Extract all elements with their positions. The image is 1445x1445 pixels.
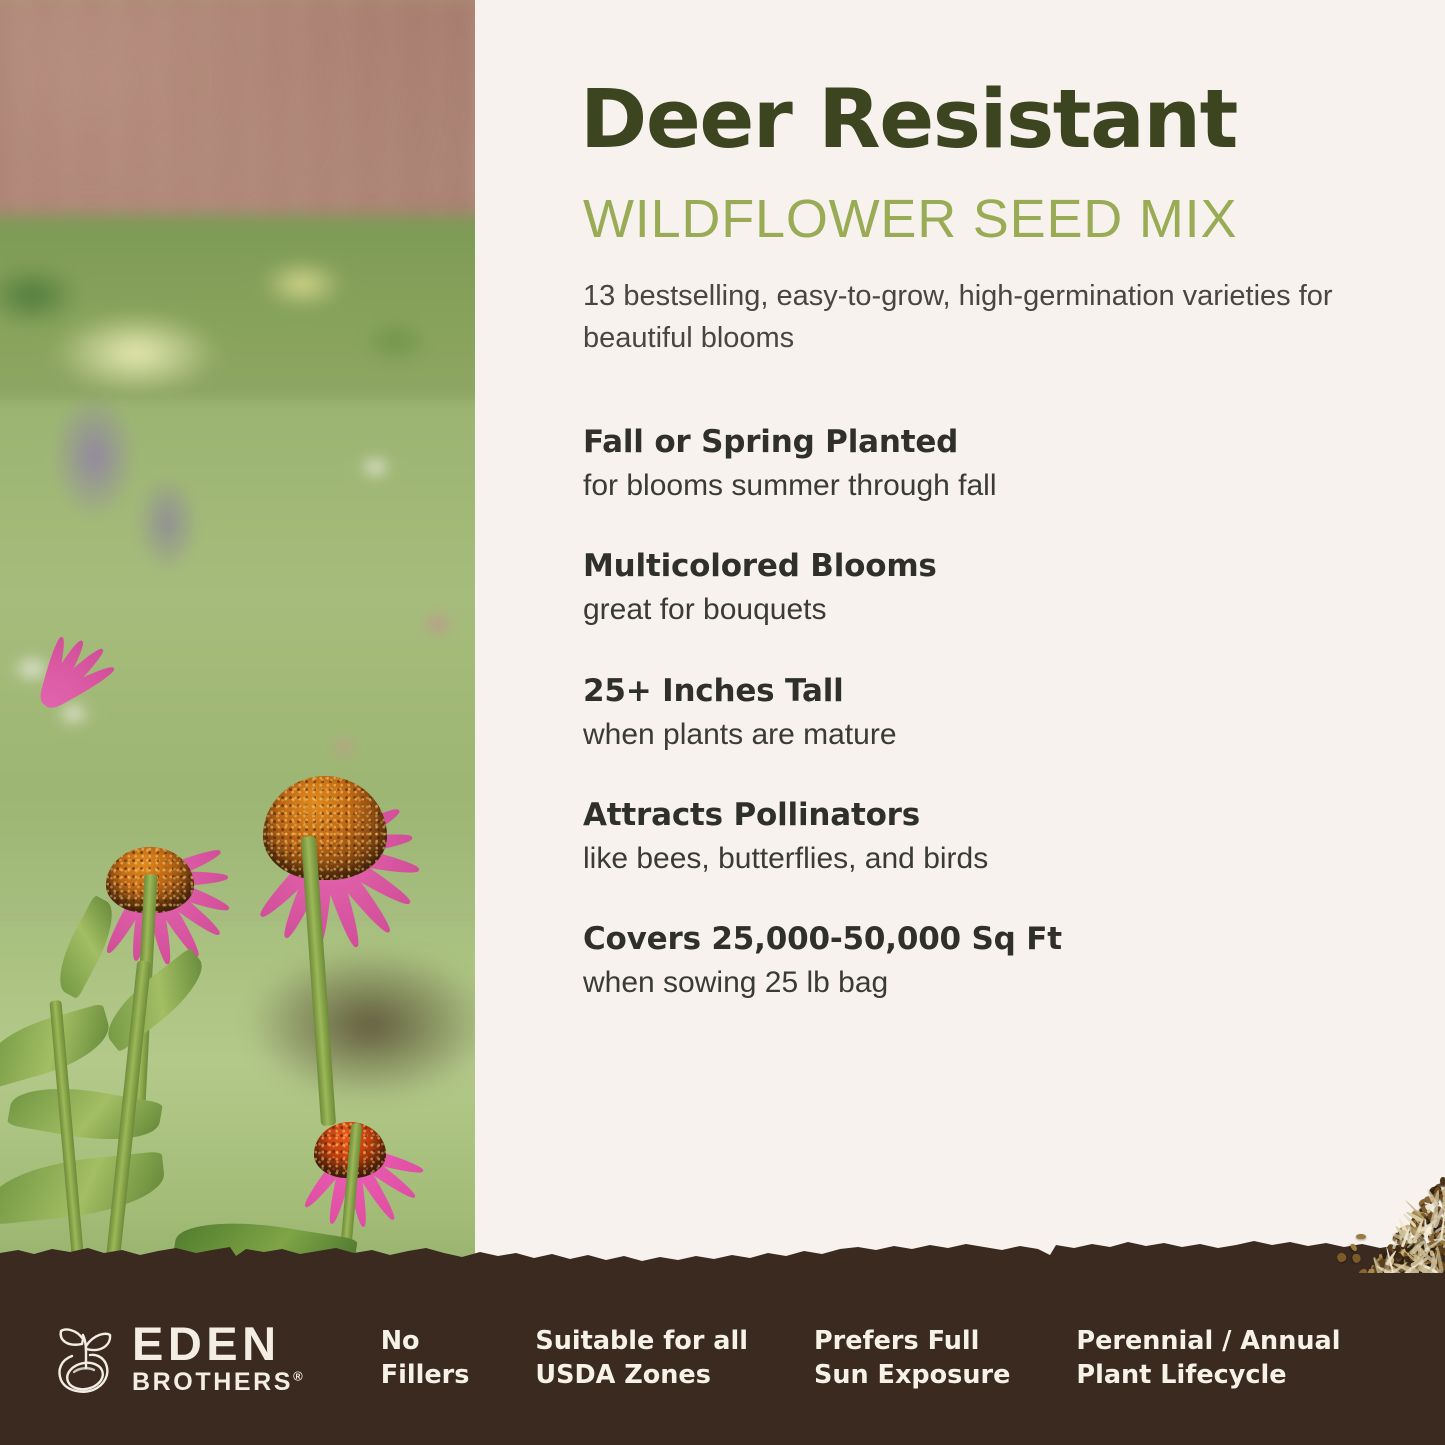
feature-title: 25+ Inches Tall — [583, 674, 1343, 710]
list-item: Multicolored Blooms great for bouquets — [583, 549, 1343, 629]
torn-soil-edge — [0, 1239, 1445, 1273]
badge-line-1: Perennial / Annual — [1076, 1325, 1340, 1359]
registered-mark: ® — [293, 1368, 303, 1383]
feature-list: Fall or Spring Planted for blooms summer… — [583, 425, 1343, 1003]
page-title: Deer Resistant — [580, 80, 1237, 161]
sprout-seedling-icon — [52, 1322, 120, 1396]
status-badge: Perennial / Annual Plant Lifecycle — [1076, 1325, 1340, 1393]
coneflower-garden-photo — [0, 0, 475, 1290]
badge-line-2: Plant Lifecycle — [1076, 1359, 1340, 1393]
feature-detail: like bees, butterflies, and birds — [583, 840, 1343, 878]
feature-detail: when plants are mature — [583, 716, 1343, 754]
feature-detail: for blooms summer through fall — [583, 467, 1343, 505]
logo-wordmark: EDEN BROTHERS® — [132, 1322, 303, 1396]
footer-bar: EDEN BROTHERS® No Fillers Suitable for a… — [0, 1273, 1445, 1445]
feature-title: Multicolored Blooms — [583, 549, 1343, 585]
footer-badges: No Fillers Suitable for all USDA Zones P… — [381, 1325, 1341, 1393]
coneflower-lower-right — [265, 1075, 435, 1225]
list-item: 25+ Inches Tall when plants are mature — [583, 674, 1343, 754]
feature-detail: when sowing 25 lb bag — [583, 964, 1343, 1002]
badge-line-1: Prefers Full — [814, 1325, 1010, 1359]
status-badge: No Fillers — [381, 1325, 470, 1393]
feature-title: Fall or Spring Planted — [583, 425, 1343, 461]
coneflower-cone — [263, 776, 387, 880]
product-copy-panel: Deer Resistant WILDFLOWER SEED MIX 13 be… — [475, 0, 1445, 1445]
eden-brothers-logo: EDEN BROTHERS® — [52, 1322, 303, 1396]
badge-line-1: No — [381, 1325, 470, 1359]
feature-detail: great for bouquets — [583, 591, 1343, 629]
coneflower-main — [215, 740, 435, 960]
feature-title: Covers 25,000-50,000 Sq Ft — [583, 922, 1343, 958]
badge-line-2: USDA Zones — [535, 1359, 748, 1393]
product-info-card: Deer Resistant WILDFLOWER SEED MIX 13 be… — [0, 0, 1445, 1445]
list-item: Fall or Spring Planted for blooms summer… — [583, 425, 1343, 505]
feature-title: Attracts Pollinators — [583, 798, 1343, 834]
badge-line-2: Fillers — [381, 1359, 470, 1393]
list-item: Covers 25,000-50,000 Sq Ft when sowing 2… — [583, 922, 1343, 1002]
status-badge: Suitable for all USDA Zones — [535, 1325, 748, 1393]
badge-line-1: Suitable for all — [535, 1325, 748, 1359]
logo-brothers-text: BROTHERS® — [132, 1369, 303, 1397]
logo-eden-text: EDEN — [132, 1322, 303, 1367]
product-description: 13 bestselling, easy-to-grow, high-germi… — [583, 275, 1343, 359]
page-subtitle: WILDFLOWER SEED MIX — [583, 192, 1237, 246]
status-badge: Prefers Full Sun Exposure — [814, 1325, 1010, 1393]
coneflower-left-edge — [0, 630, 120, 780]
list-item: Attracts Pollinators like bees, butterfl… — [583, 798, 1343, 878]
badge-line-2: Sun Exposure — [814, 1359, 1010, 1393]
